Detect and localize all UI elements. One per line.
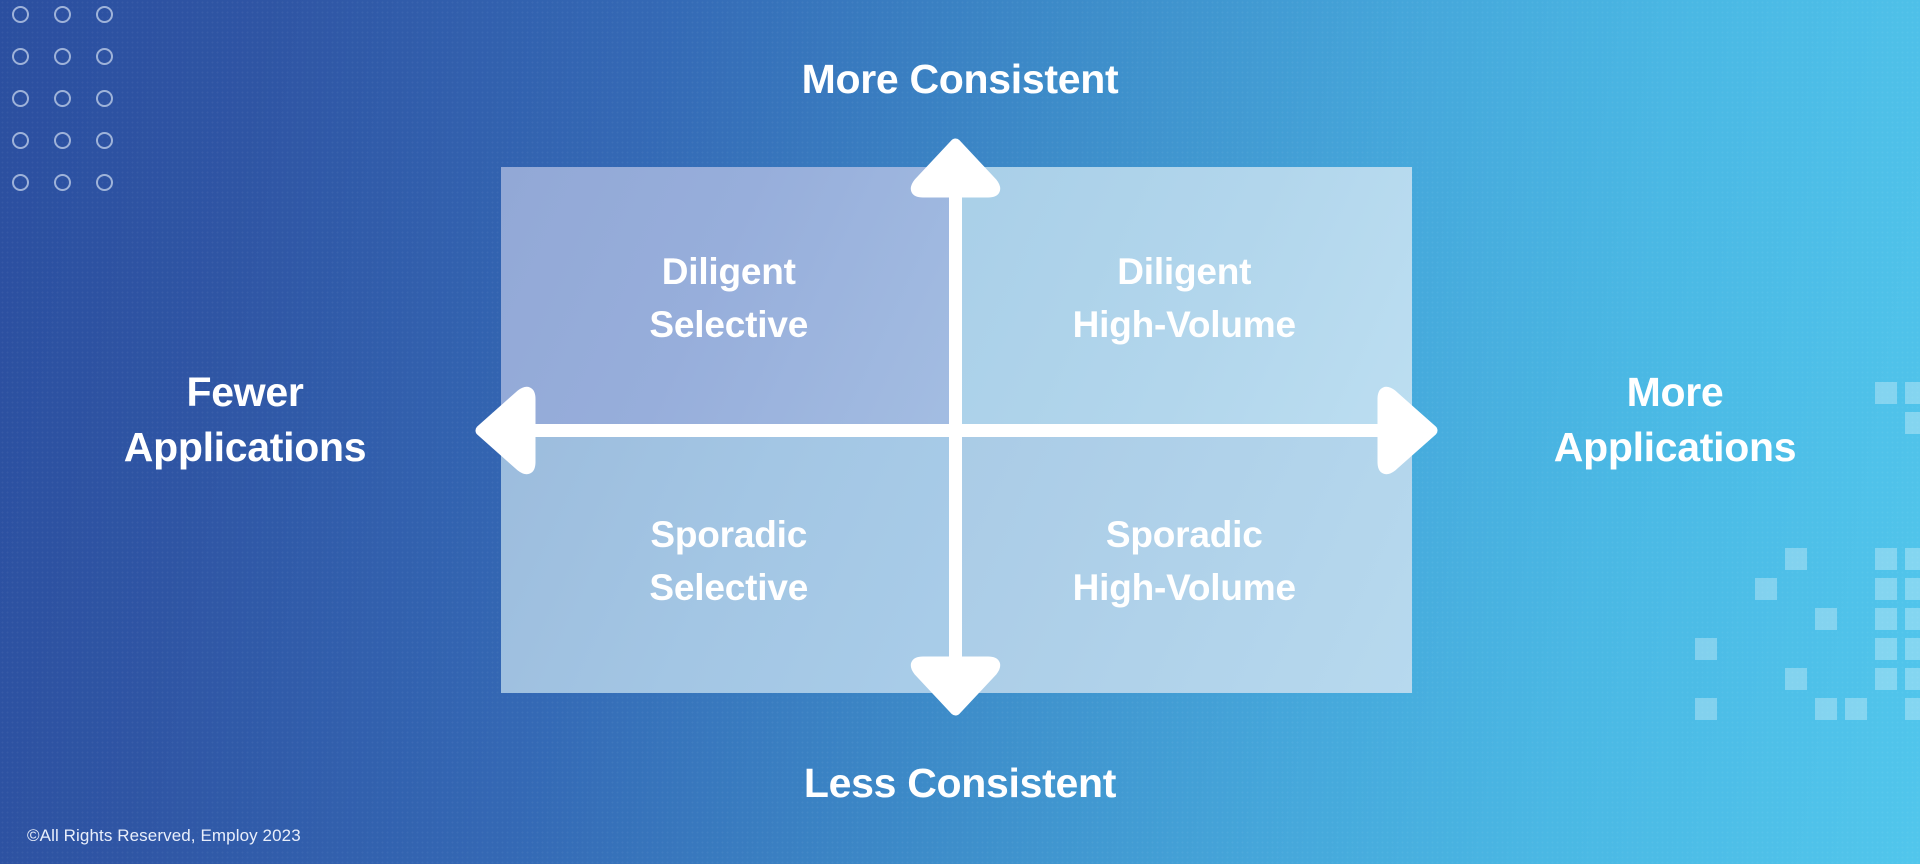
square-icon xyxy=(1875,548,1897,570)
square-icon xyxy=(1815,608,1837,630)
circle-icon xyxy=(96,174,113,191)
square-icon xyxy=(1725,668,1747,690)
square-icon xyxy=(1905,698,1920,720)
square-icon xyxy=(1725,698,1747,720)
quadrant-diligent-high-volume: Diligent High-Volume xyxy=(957,167,1413,430)
square-icon xyxy=(1815,668,1837,690)
square-icon xyxy=(1905,668,1920,690)
square-icon xyxy=(1905,548,1920,570)
quadrant-label: Diligent High-Volume xyxy=(1073,246,1296,351)
quadrant-matrix-infographic: Diligent Selective Diligent High-Volume … xyxy=(0,0,1920,864)
square-icon xyxy=(1845,638,1867,660)
square-icon xyxy=(1785,608,1807,630)
square-icon xyxy=(1755,548,1777,570)
square-icon xyxy=(1695,578,1717,600)
circle-icon xyxy=(96,132,113,149)
quadrant-diligent-selective: Diligent Selective xyxy=(501,167,957,430)
square-icon xyxy=(1845,668,1867,690)
quadrant-sporadic-selective: Sporadic Selective xyxy=(501,430,957,693)
square-icon xyxy=(1815,548,1837,570)
square-icon xyxy=(1875,608,1897,630)
square-icon xyxy=(1695,668,1717,690)
square-icon xyxy=(1785,638,1807,660)
square-icon xyxy=(1875,698,1897,720)
square-icon xyxy=(1815,698,1837,720)
square-icon xyxy=(1755,698,1777,720)
square-icon xyxy=(1755,638,1777,660)
square-icon xyxy=(1875,578,1897,600)
square-icon xyxy=(1785,698,1807,720)
axis-label-fewer-applications: Fewer Applications xyxy=(30,365,460,475)
square-icon xyxy=(1785,578,1807,600)
circle-icon xyxy=(96,6,113,23)
square-icon xyxy=(1815,638,1837,660)
square-icon xyxy=(1695,698,1717,720)
quadrant-sporadic-high-volume: Sporadic High-Volume xyxy=(957,430,1413,693)
axis-label-more-consistent: More Consistent xyxy=(0,52,1920,107)
square-icon xyxy=(1725,638,1747,660)
square-icon xyxy=(1755,668,1777,690)
square-icon xyxy=(1845,578,1867,600)
square-icon xyxy=(1875,668,1897,690)
circle-icon xyxy=(12,6,29,23)
decorative-circle-grid xyxy=(12,6,138,216)
axis-label-more-applications: More Applications xyxy=(1460,365,1890,475)
square-icon xyxy=(1755,578,1777,600)
circle-icon xyxy=(12,132,29,149)
square-icon xyxy=(1785,668,1807,690)
decorative-square-grid-bottom xyxy=(1695,548,1920,728)
copyright-text: ©All Rights Reserved, Employ 2023 xyxy=(27,826,301,846)
quadrant-label: Sporadic High-Volume xyxy=(1073,509,1296,614)
quadrant-label: Sporadic Selective xyxy=(649,509,808,614)
axis-label-less-consistent: Less Consistent xyxy=(0,756,1920,811)
square-icon xyxy=(1905,412,1920,434)
circle-icon xyxy=(54,132,71,149)
square-icon xyxy=(1815,578,1837,600)
square-icon xyxy=(1845,548,1867,570)
square-icon xyxy=(1905,578,1920,600)
square-icon xyxy=(1755,608,1777,630)
square-icon xyxy=(1725,548,1747,570)
square-icon xyxy=(1695,608,1717,630)
circle-icon xyxy=(12,174,29,191)
circle-icon xyxy=(54,6,71,23)
square-icon xyxy=(1875,638,1897,660)
square-icon xyxy=(1905,382,1920,404)
square-icon xyxy=(1905,638,1920,660)
square-icon xyxy=(1725,578,1747,600)
circle-icon xyxy=(54,174,71,191)
quadrant-grid: Diligent Selective Diligent High-Volume … xyxy=(501,167,1412,693)
square-icon xyxy=(1785,548,1807,570)
square-icon xyxy=(1695,638,1717,660)
square-icon xyxy=(1695,548,1717,570)
square-icon xyxy=(1845,608,1867,630)
square-icon xyxy=(1845,698,1867,720)
square-icon xyxy=(1905,608,1920,630)
square-icon xyxy=(1725,608,1747,630)
quadrant-label: Diligent Selective xyxy=(649,246,808,351)
